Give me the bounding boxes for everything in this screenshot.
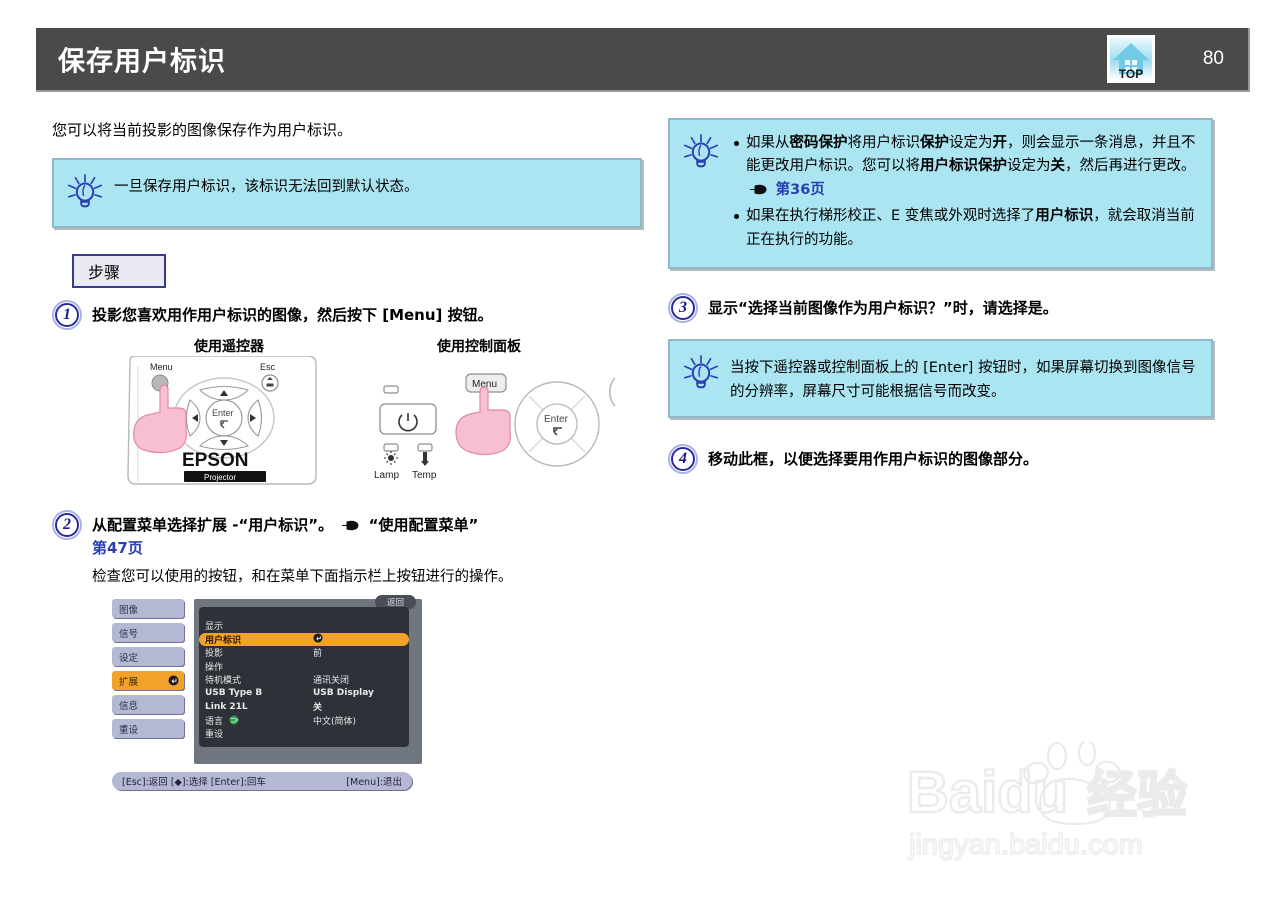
- tip-text: ，然后再进行更改。: [1065, 158, 1196, 174]
- baidu-watermark: Baidu 经验 jingyan.baidu.com: [905, 742, 1225, 872]
- osd-row-value: 通讯关闭: [313, 673, 403, 686]
- step-2-quote: “用户标识”: [238, 516, 318, 534]
- enter-icon: [313, 633, 323, 643]
- remote-esc-label: Esc: [260, 362, 276, 372]
- osd-row-value: 前: [313, 646, 403, 659]
- osd-row-label: 语言: [205, 717, 223, 727]
- watermark-url: jingyan.baidu.com: [908, 829, 1143, 861]
- osd-sidebar-item-signal[interactable]: 信号: [112, 623, 184, 642]
- osd-sidebar-label: 扩展: [119, 674, 138, 688]
- pointing-hand-icon: [456, 387, 510, 455]
- osd-row[interactable]: Link 21L 关: [199, 700, 409, 714]
- remote-menu-label: Menu: [150, 362, 173, 372]
- tip-box-1-text: 一旦保存用户标识，该标识无法回到默认状态。: [114, 170, 626, 199]
- step-2-page-link[interactable]: 第47页: [92, 539, 143, 557]
- remote-enter-label: Enter: [212, 408, 234, 418]
- left-column: 您可以将当前投影的图像保存作为用户标识。 一旦保存用户标识，该标识无法回到默认状…: [52, 118, 642, 790]
- osd-row-user-logo[interactable]: 用户标识: [199, 633, 409, 647]
- tip-text: 设定为: [949, 135, 993, 151]
- step-2-text-b: 。: [318, 516, 333, 534]
- lightbulb-icon: [64, 172, 106, 214]
- osd-sidebar-label: 重设: [119, 722, 138, 736]
- osd-sidebar-item-settings[interactable]: 设定: [112, 647, 184, 666]
- tip-box-1: 一旦保存用户标识，该标识无法回到默认状态。: [52, 158, 642, 228]
- osd-row-label: 重设: [205, 727, 313, 740]
- globe-icon: [229, 715, 239, 725]
- tip-page-link-36[interactable]: 第36页: [776, 182, 825, 198]
- remote-sub-brand: Projector: [204, 473, 236, 482]
- osd-row-label: 待机模式: [205, 673, 313, 686]
- osd-sidebar-label: 信号: [119, 626, 138, 640]
- osd-item-list: 显示 用户标识 投影 前: [199, 607, 409, 747]
- osd-row-value: 中文(简体): [313, 714, 403, 727]
- tip-box-2-body: 如果从密码保护将用户标识保护设定为开，则会显示一条消息，并且不能更改用户标识。您…: [730, 130, 1197, 255]
- panel-enter-label: Enter: [544, 414, 569, 425]
- step-4-number: 4: [668, 444, 698, 474]
- osd-panel: 返回 显示 用户标识: [194, 599, 422, 764]
- tip-text: 如果在执行梯形校正、E 变焦或外观时选择了: [746, 208, 1035, 224]
- osd-sidebar-label: 图像: [119, 602, 138, 616]
- osd-row-label: 投影: [205, 646, 313, 659]
- tip-text-bold: 用户标识保护: [920, 158, 1007, 174]
- step-2-subtext: 检查您可以使用的按钮，和在菜单下面指示栏上按钮进行的操作。: [92, 566, 642, 589]
- osd-sidebar: 图像 信号 设定 扩展 信息: [112, 599, 184, 743]
- page-number: 80: [1203, 48, 1224, 70]
- watermark-suffix: 经验: [1087, 766, 1187, 824]
- tip-text-bold: 开: [993, 135, 1008, 151]
- osd-row[interactable]: 待机模式 通讯关闭: [199, 673, 409, 687]
- tip-text: 如果从: [746, 135, 790, 151]
- osd-row[interactable]: 投影 前: [199, 646, 409, 660]
- pointing-finger-icon: [750, 184, 767, 195]
- tip-box-3-text: 当按下遥控器或控制面板上的 [Enter] 按钮时，如果屏幕切换到图像信号的分辨…: [730, 351, 1197, 404]
- enter-icon-wrap: [313, 633, 353, 646]
- osd-sidebar-item-image[interactable]: 图像: [112, 599, 184, 618]
- tip-text-bold: 密码保护: [790, 135, 848, 151]
- top-home-button[interactable]: TOP: [1107, 35, 1155, 83]
- right-column: 如果从密码保护将用户标识保护设定为开，则会显示一条消息，并且不能更改用户标识。您…: [668, 118, 1213, 478]
- step-2-number-badge: 2: [52, 510, 82, 540]
- osd-row-label: 操作: [205, 660, 313, 673]
- baidu-watermark-icon: Baidu 经验 jingyan.baidu.com: [905, 742, 1225, 872]
- tip-bullet-list: 如果从密码保护将用户标识保护设定为开，则会显示一条消息，并且不能更改用户标识。您…: [730, 132, 1197, 252]
- osd-status-right: [Menu]:退出: [346, 774, 402, 788]
- osd-status-bar: [Esc]:返回 [◆]:选择 [Enter]:回车 [Menu]:退出: [112, 772, 412, 790]
- osd-row-language[interactable]: 语言 中文(简体): [199, 714, 409, 728]
- step-2: 2 从配置菜单选择扩展 -“用户标识”。 “使用配置菜单” 第47页 检查您可以…: [52, 510, 642, 589]
- step-4-number-badge: 4: [668, 444, 698, 474]
- osd-menu: 图像 信号 设定 扩展 信息: [112, 599, 422, 764]
- lamp-label: Lamp: [374, 470, 399, 481]
- remote-caption: 使用遥控器: [194, 336, 264, 356]
- lightbulb-icon: [680, 353, 722, 395]
- step-1-text: 投影您喜欢用作用户标识的图像，然后按下 [Menu] 按钮。: [92, 300, 642, 327]
- remote-control-diagram: Menu Esc Enter EPSON Projector: [112, 356, 372, 486]
- watermark-brand: Baidu: [907, 760, 1068, 825]
- step-2-text-a: 从配置菜单选择扩展 -: [92, 516, 238, 534]
- remote-brand: EPSON: [182, 450, 249, 471]
- device-figures: 使用遥控器 使用控制面板 Menu Esc Enter EPSON Pr: [52, 336, 642, 486]
- page-header: 保存用户标识 TOP 80: [36, 28, 1250, 92]
- step-3-number: 3: [668, 293, 698, 323]
- lightbulb-icon: [680, 132, 722, 174]
- osd-row-label-wrap: 语言: [205, 714, 313, 727]
- temp-label: Temp: [412, 470, 437, 481]
- osd-row[interactable]: 显示: [199, 619, 409, 633]
- tip-bullet-1: 如果从密码保护将用户标识保护设定为开，则会显示一条消息，并且不能更改用户标识。您…: [746, 132, 1197, 202]
- osd-sidebar-item-reset[interactable]: 重设: [112, 719, 184, 738]
- osd-sidebar-label: 信息: [119, 698, 138, 712]
- step-4-text: 移动此框，以便选择要用作用户标识的图像部分。: [708, 444, 1213, 471]
- osd-row[interactable]: 操作: [199, 660, 409, 674]
- control-panel-caption: 使用控制面板: [437, 336, 521, 356]
- step-1: 1 投影您喜欢用作用户标识的图像，然后按下 [Menu] 按钮。: [52, 300, 642, 330]
- osd-row-value: USB Display: [313, 688, 403, 698]
- step-1-number: 1: [52, 300, 82, 330]
- osd-row-label: USB Type B: [205, 688, 313, 698]
- top-button-label: TOP: [1107, 67, 1155, 81]
- osd-menu-figure: 图像 信号 设定 扩展 信息: [112, 599, 422, 790]
- control-panel-diagram: Lamp Temp Menu Enter: [362, 356, 632, 486]
- procedure-label: 步骤: [72, 254, 166, 288]
- step-2-text: 从配置菜单选择扩展 -“用户标识”。 “使用配置菜单” 第47页 检查您可以使用…: [92, 510, 642, 589]
- step-2-reference: “使用配置菜单”: [369, 516, 479, 534]
- osd-row-label: 显示: [205, 619, 313, 632]
- osd-row-label: Link 21L: [205, 702, 313, 712]
- step-3: 3 显示“选择当前图像作为用户标识？”时，请选择是。: [668, 293, 1213, 323]
- step-4: 4 移动此框，以便选择要用作用户标识的图像部分。: [668, 444, 1213, 474]
- tip-text: 设定为: [1007, 158, 1051, 174]
- tip-box-3: 当按下遥控器或控制面板上的 [Enter] 按钮时，如果屏幕切换到图像信号的分辨…: [668, 339, 1213, 418]
- step-3-number-badge: 3: [668, 293, 698, 323]
- tip-text-bold: 保护: [920, 135, 949, 151]
- osd-row-label: 用户标识: [205, 633, 313, 646]
- step-1-number-badge: 1: [52, 300, 82, 330]
- enter-icon: [168, 675, 179, 686]
- page-title: 保存用户标识: [58, 40, 226, 79]
- step-3-text: 显示“选择当前图像作为用户标识？”时，请选择是。: [708, 293, 1213, 320]
- step-2-number: 2: [52, 510, 82, 540]
- osd-sidebar-label: 设定: [119, 650, 138, 664]
- tip-text-bold: 用户标识: [1035, 208, 1093, 224]
- osd-row[interactable]: USB Type B USB Display: [199, 687, 409, 701]
- osd-row[interactable]: 重设: [199, 727, 409, 741]
- osd-sidebar-item-info[interactable]: 信息: [112, 695, 184, 714]
- tip-box-2: 如果从密码保护将用户标识保护设定为开，则会显示一条消息，并且不能更改用户标识。您…: [668, 118, 1213, 269]
- osd-status-left: [Esc]:返回 [◆]:选择 [Enter]:回车: [122, 774, 266, 788]
- tip-text: 将用户标识: [848, 135, 921, 151]
- pointing-finger-icon: [342, 520, 359, 531]
- tip-text-bold: 关: [1051, 158, 1066, 174]
- osd-sidebar-item-extended[interactable]: 扩展: [112, 671, 184, 690]
- intro-paragraph: 您可以将当前投影的图像保存作为用户标识。: [52, 118, 642, 142]
- tip-bullet-2: 如果在执行梯形校正、E 变焦或外观时选择了用户标识，就会取消当前正在执行的功能。: [746, 205, 1197, 252]
- osd-row-value: 关: [313, 700, 403, 713]
